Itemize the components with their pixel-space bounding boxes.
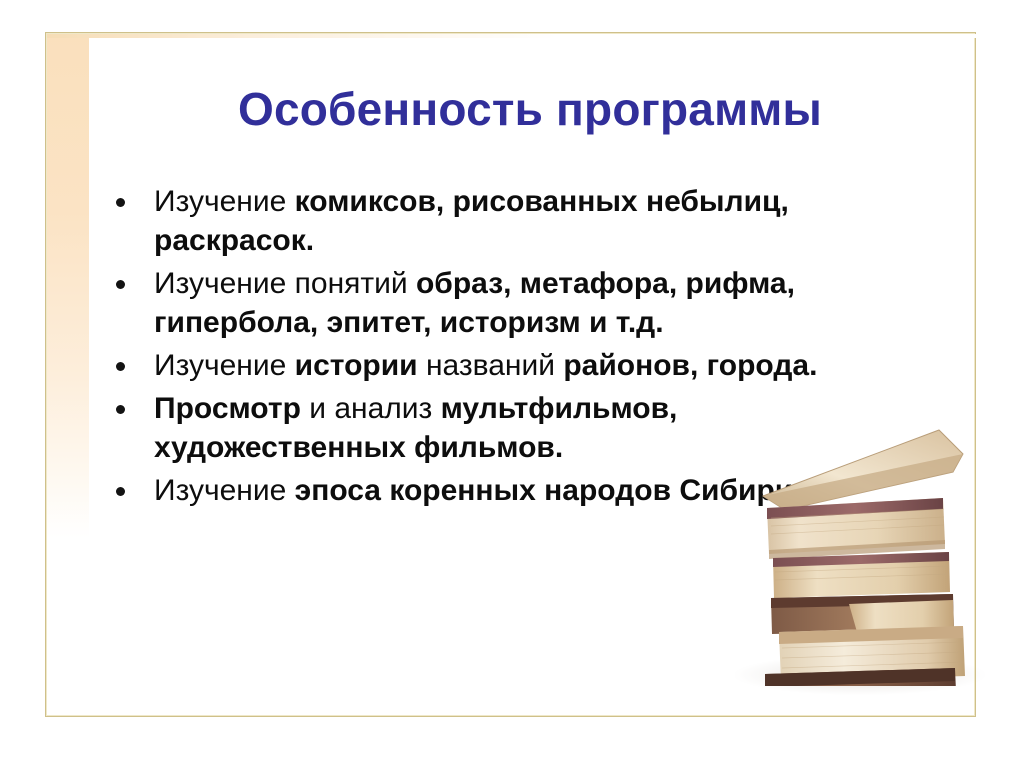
list-item-text: Изучение эпоса коренных народов Сибири. [154,474,802,507]
slide-frame-left-band [47,34,89,715]
bullet-dot-icon [116,362,125,371]
list-item: Изучение истории названий районов, город… [108,346,878,385]
presentation-slide: Особенность программы Изучение комиксов,… [0,0,1024,767]
list-item: Изучение комиксов, рисованных небылиц, р… [108,182,878,260]
bullet-list: Изучение комиксов, рисованных небылиц, р… [108,182,878,514]
bullet-dot-icon [116,198,125,207]
text-run: Изучение понятий [154,267,416,300]
list-item: Просмотр и анализ мультфильмов, художест… [108,389,878,467]
text-run: названий [418,349,564,382]
text-run-bold: районов, города. [563,349,817,382]
bullet-dot-icon [116,280,125,289]
list-item-text: Изучение истории названий районов, город… [154,349,817,382]
bullet-dot-icon [116,405,125,414]
list-item-text: Просмотр и анализ мультфильмов, художест… [154,392,677,464]
list-item-text: Изучение комиксов, рисованных небылиц, р… [154,185,789,257]
text-run: Изучение [154,185,295,218]
list-item: Изучение эпоса коренных народов Сибири. [108,471,878,510]
text-run: и анализ [301,392,441,425]
text-run-bold: эпоса коренных народов Сибири. [295,474,802,507]
bullet-dot-icon [116,487,125,496]
text-run: Изучение [154,474,295,507]
list-item: Изучение понятий образ, метафора, рифма,… [108,264,878,342]
slide-frame-top-band [47,34,976,38]
text-run-bold: Просмотр [154,392,301,425]
text-run-bold: истории [295,349,418,382]
book-stack-shadow [735,655,985,695]
slide-title: Особенность программы [110,84,950,135]
list-item-text: Изучение понятий образ, метафора, рифма,… [154,267,795,339]
text-run: Изучение [154,349,295,382]
